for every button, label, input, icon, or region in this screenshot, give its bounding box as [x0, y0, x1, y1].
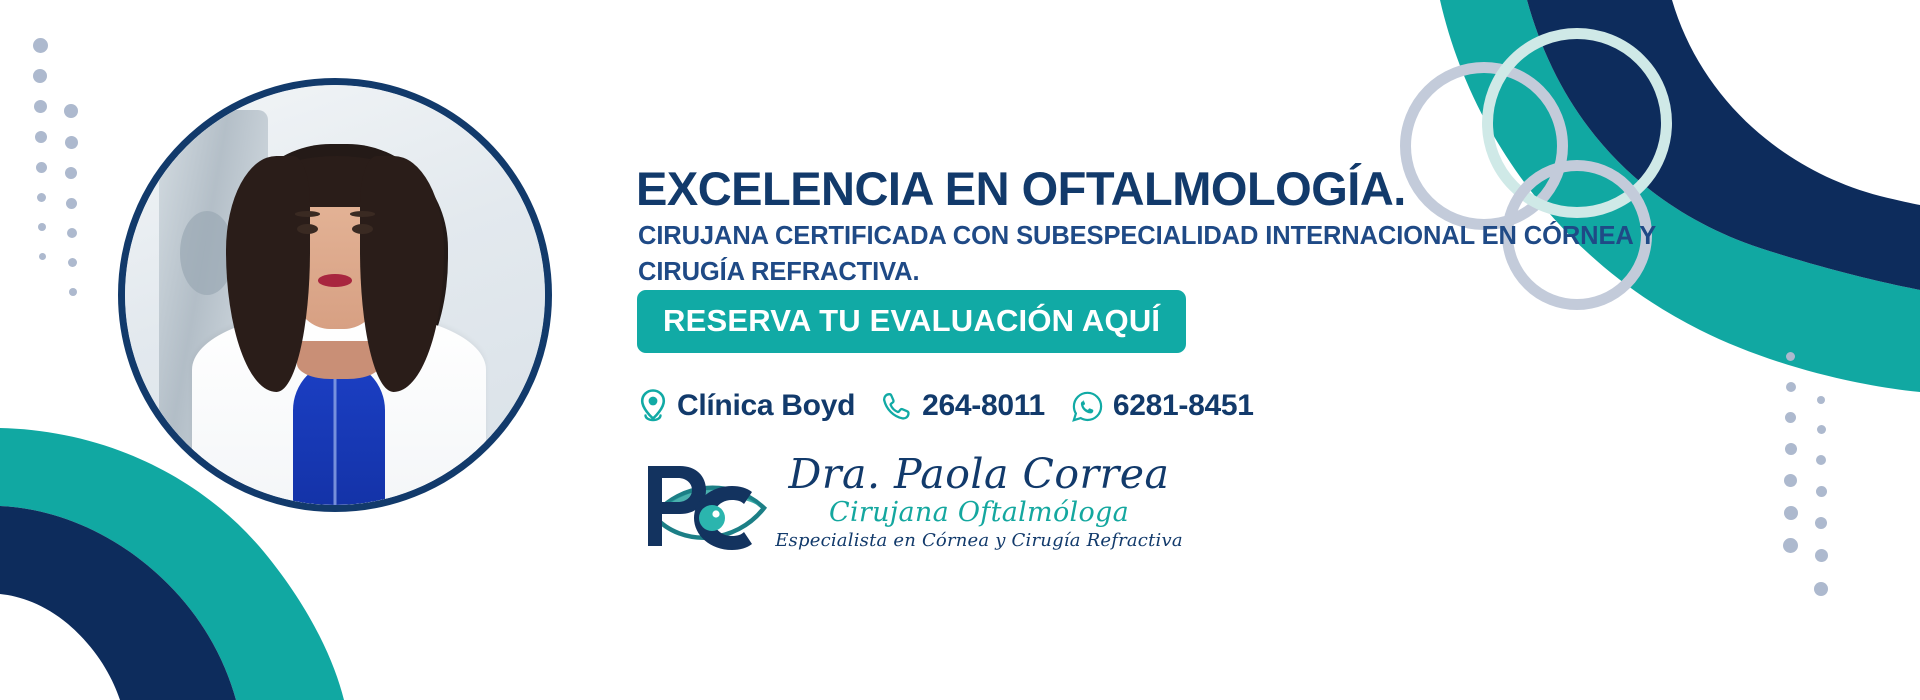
reserve-evaluation-button[interactable]: RESERVA TU EVALUACIÓN AQUÍ — [637, 290, 1186, 353]
contact-row: Clínica Boyd 264-8011 6281-8451 — [638, 388, 1254, 424]
doctor-role: Cirujana Oftalmóloga — [764, 497, 1194, 528]
whatsapp-icon — [1071, 390, 1104, 423]
promo-banner: EXCELENCIA EN OFTALMOLOGÍA. CIRUJANA CER… — [0, 0, 1920, 700]
clinic-name: Clínica Boyd — [677, 389, 855, 423]
doctor-name: Dra. Paola Correa — [764, 454, 1194, 496]
contact-item-clinic[interactable]: Clínica Boyd — [638, 388, 855, 424]
phone-icon — [881, 390, 913, 422]
pc-eye-monogram-icon — [636, 452, 772, 564]
doctor-logo: Dra. Paola Correa Cirujana Oftalmóloga E… — [636, 452, 1196, 572]
subheadline: CIRUJANA CERTIFICADA CON SUBESPECIALIDAD… — [638, 218, 1728, 290]
logo-wordmark: Dra. Paola Correa Cirujana Oftalmóloga E… — [764, 454, 1194, 551]
contact-item-whatsapp[interactable]: 6281-8451 — [1071, 389, 1254, 423]
doctor-portrait — [118, 78, 552, 512]
phone-number: 264-8011 — [922, 389, 1045, 423]
contact-item-phone[interactable]: 264-8011 — [881, 389, 1045, 423]
headline: EXCELENCIA EN OFTALMOLOGÍA. — [636, 161, 1406, 216]
doctor-specialty: Especialista en Córnea y Cirugía Refract… — [764, 530, 1194, 552]
whatsapp-number: 6281-8451 — [1113, 389, 1254, 423]
content-column: EXCELENCIA EN OFTALMOLOGÍA. CIRUJANA CER… — [636, 0, 1736, 700]
portrait-image — [125, 85, 545, 505]
location-pin-icon — [638, 388, 668, 424]
